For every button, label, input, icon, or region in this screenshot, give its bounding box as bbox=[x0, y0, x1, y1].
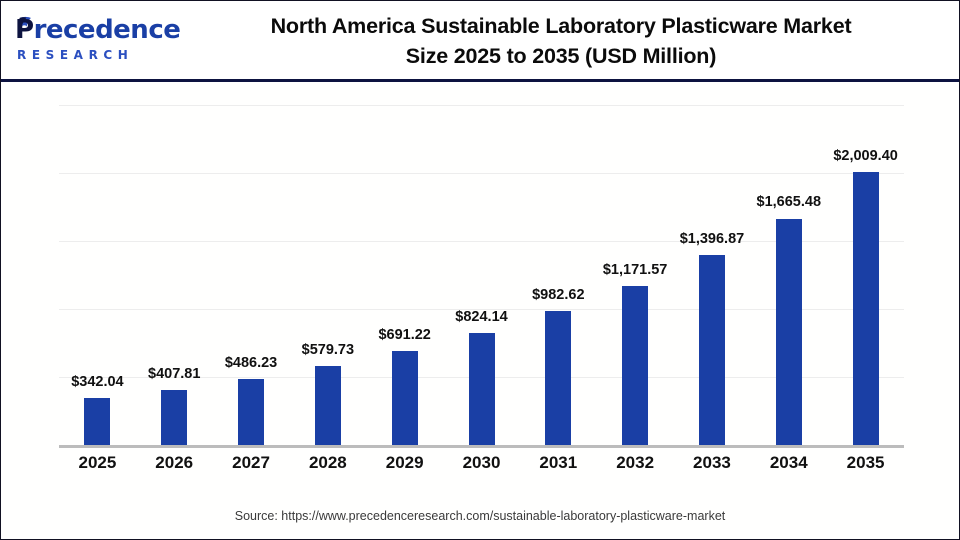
bar-value-label: $691.22 bbox=[345, 327, 465, 343]
chart-figure: Precedence RESEARCH North America Sustai… bbox=[0, 0, 960, 540]
precedence-research-logo: Precedence RESEARCH bbox=[15, 15, 165, 67]
bar[interactable] bbox=[853, 172, 879, 445]
bar[interactable] bbox=[545, 311, 571, 445]
title-line-2: Size 2025 to 2035 (USD Million) bbox=[406, 44, 716, 68]
bar-value-label: $2,009.40 bbox=[806, 148, 926, 164]
x-axis-label: 2035 bbox=[806, 453, 926, 473]
bar-value-label: $824.14 bbox=[422, 309, 542, 325]
bar-value-label: $1,396.87 bbox=[652, 231, 772, 247]
logo-word-rest: recedence bbox=[34, 15, 181, 45]
bar[interactable] bbox=[622, 286, 648, 445]
page-title: North America Sustainable Laboratory Pla… bbox=[181, 11, 941, 71]
title-line-1: North America Sustainable Laboratory Pla… bbox=[271, 14, 852, 38]
plot-area: $342.04$407.81$486.23$579.73$691.22$824.… bbox=[59, 105, 904, 445]
bar[interactable] bbox=[776, 219, 802, 446]
x-axis-baseline bbox=[59, 445, 904, 448]
logo-wordmark: Precedence bbox=[15, 15, 180, 45]
bar[interactable] bbox=[84, 398, 110, 445]
logo-subtitle: RESEARCH bbox=[17, 48, 133, 62]
bar[interactable] bbox=[469, 333, 495, 445]
gridline bbox=[59, 173, 904, 174]
logo-word-lead: P bbox=[15, 15, 34, 45]
bar[interactable] bbox=[315, 366, 341, 445]
bar[interactable] bbox=[161, 390, 187, 445]
bar-value-label: $579.73 bbox=[268, 342, 388, 358]
figure-header: Precedence RESEARCH North America Sustai… bbox=[1, 1, 959, 82]
bar-value-label: $1,171.57 bbox=[575, 262, 695, 278]
bar[interactable] bbox=[392, 351, 418, 445]
bar[interactable] bbox=[238, 379, 264, 445]
bar[interactable] bbox=[699, 255, 725, 445]
source-caption: Source: https://www.precedenceresearch.c… bbox=[1, 509, 959, 523]
bar-value-label: $1,665.48 bbox=[729, 194, 849, 210]
bar-value-label: $982.62 bbox=[498, 287, 618, 303]
gridline bbox=[59, 105, 904, 106]
